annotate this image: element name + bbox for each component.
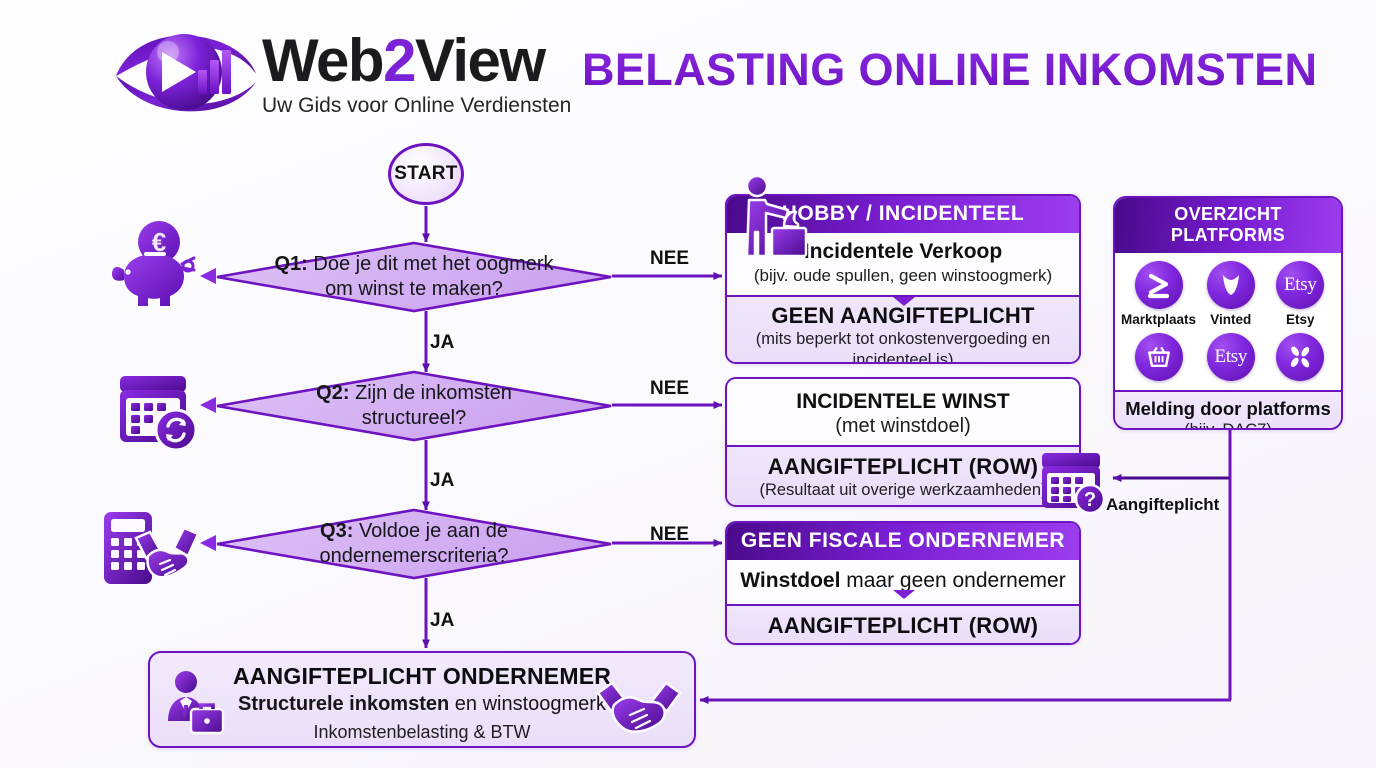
- platform-name: Marktplaats: [1121, 312, 1196, 328]
- outcome-card-geen-fiscale-ondernemer[interactable]: GEEN FISCALE ONDERNEMER Winstdoel maar g…: [725, 521, 1081, 645]
- platform-name: Etsy: [1266, 312, 1335, 328]
- platforms-footer-title: Melding door platforms: [1121, 397, 1335, 420]
- platform-vinted[interactable]: Vinted: [1196, 261, 1265, 328]
- hobby-body-sub: (bijv. oude spullen, geen winstoogmerk): [737, 265, 1069, 287]
- final-subtitle-bold: Structurele inkomsten: [238, 693, 449, 715]
- web2view-logo-icon: [110, 26, 262, 118]
- marktplaats-logo-icon: [1135, 261, 1183, 309]
- pinwheel-flower-icon: [1276, 333, 1324, 381]
- decision-q1[interactable]: Q1: Doe je dit met het oogmerk om winst …: [216, 242, 612, 312]
- brand-block: Web2View Uw Gids voor Online Verdiensten: [262, 30, 575, 118]
- incw-body-title: INCIDENTELE WINST: [737, 389, 1069, 415]
- q2-line2: structureel?: [362, 406, 467, 431]
- etsy-wordmark: Etsy: [1284, 274, 1317, 296]
- incw-foot-title: AANGIFTEPLICHT (ROW): [735, 453, 1071, 480]
- brand-tagline: Uw Gids voor Online Verdiensten: [262, 94, 575, 118]
- aangifteplicht-annotation: Aangifteplicht: [1106, 495, 1219, 515]
- gfo-card-header: GEEN FISCALE ONDERNEMER: [727, 523, 1079, 560]
- q2-prefix: Q2:: [316, 382, 349, 404]
- etsy-logo-icon: Etsy: [1207, 333, 1255, 381]
- platform-etsy-1[interactable]: Etsy Etsy: [1266, 261, 1335, 328]
- chevron-down-icon: [893, 590, 915, 599]
- page-title: BELASTING ONLINE INKOMSTEN: [582, 44, 1317, 96]
- decision-q3[interactable]: Q3: Voldoe je aan de ondernemerscriteria…: [216, 509, 612, 579]
- q1-line2: om winst te maken?: [325, 277, 503, 302]
- brand-word-view: View: [415, 27, 545, 94]
- incw-card-body: INCIDENTELE WINST (met winstdoel): [727, 379, 1079, 445]
- vinted-logo-icon: [1207, 261, 1255, 309]
- brand-word-web: Web: [262, 27, 383, 94]
- brand-word-two: 2: [383, 27, 415, 94]
- platforms-footer-sub: (bijv. DAC7): [1121, 420, 1335, 430]
- incw-card-foot: AANGIFTEPLICHT (ROW) (Resultaat uit over…: [727, 445, 1079, 507]
- final-subtitle-rest: en winstoogmerk: [449, 693, 606, 715]
- platforms-overview-panel[interactable]: OVERZICHT PLATFORMS Marktplaats Vinted E…: [1113, 196, 1343, 430]
- q1-prefix: Q1:: [274, 253, 307, 275]
- platforms-panel-header: OVERZICHT PLATFORMS: [1115, 198, 1341, 253]
- chevron-down-icon: [893, 297, 915, 306]
- platforms-panel-footer: Melding door platforms (bijv. DAC7): [1115, 392, 1341, 430]
- gfo-card-foot: AANGIFTEPLICHT (ROW): [727, 604, 1079, 645]
- calculator-handshake-icon: [98, 504, 210, 592]
- incw-foot-sub: (Resultaat uit overige werkzaamheden): [735, 480, 1071, 501]
- incw-body-sub: (met winstdoel): [737, 415, 1069, 437]
- q2-no-label: NEE: [650, 378, 689, 400]
- q1-yes-label: JA: [430, 332, 454, 354]
- hobby-foot-title: GEEN AANGIFTEPLICHT: [735, 302, 1071, 329]
- q2-text: Q2: Zijn de inkomsten structureel?: [216, 371, 612, 441]
- handshake-icon: [596, 675, 682, 737]
- svg-text:?: ?: [1084, 489, 1096, 511]
- calendar-recurring-icon: [110, 362, 206, 456]
- start-node[interactable]: START: [388, 143, 464, 205]
- q3-line2: ondernemerscriteria?: [320, 544, 509, 569]
- etsy-wordmark: Etsy: [1214, 346, 1247, 368]
- gfo-body-title-rest: maar geen ondernemer: [840, 569, 1065, 592]
- market-stall-person-icon: [736, 174, 816, 260]
- gfo-body-title-bold: Winstdoel: [740, 569, 840, 592]
- platform-name: Vinted: [1196, 312, 1265, 328]
- shopping-basket-icon: [1135, 333, 1183, 381]
- page-header: Web2View Uw Gids voor Online Verdiensten…: [0, 0, 1376, 140]
- q2-line1: Zijn de inkomsten: [355, 382, 512, 404]
- decision-q2[interactable]: Q2: Zijn de inkomsten structureel?: [216, 371, 612, 441]
- platform-marktplaats[interactable]: Marktplaats: [1121, 261, 1196, 328]
- platform-etsy-2[interactable]: Etsy: [1196, 333, 1265, 384]
- q1-line1: Doe je dit met het oogmerk: [313, 253, 553, 275]
- hobby-foot-sub: (mits beperkt tot onkostenvergoeding en …: [735, 329, 1071, 364]
- etsy-logo-icon: Etsy: [1276, 261, 1324, 309]
- platform-basket[interactable]: [1121, 333, 1196, 384]
- q1-text: Q1: Doe je dit met het oogmerk om winst …: [216, 242, 612, 312]
- calendar-question-icon: ?: [1036, 443, 1114, 515]
- q2-yes-label: JA: [430, 470, 454, 492]
- q3-line1: Voldoe je aan de: [359, 520, 508, 542]
- outcome-card-incidentele-winst[interactable]: INCIDENTELE WINST (met winstdoel) AANGIF…: [725, 377, 1081, 507]
- gfo-foot-title: AANGIFTEPLICHT (ROW): [735, 612, 1071, 639]
- brand-wordmark: Web2View: [262, 30, 575, 92]
- platform-pinwheel[interactable]: [1266, 333, 1335, 384]
- piggy-bank-euro-icon: €: [104, 214, 200, 314]
- q3-prefix: Q3:: [320, 520, 353, 542]
- businessman-briefcase-icon: [158, 667, 230, 739]
- q3-no-label: NEE: [650, 524, 689, 546]
- platforms-grid: Marktplaats Vinted Etsy Etsy: [1115, 253, 1341, 392]
- q3-yes-label: JA: [430, 610, 454, 632]
- outcome-card-aangifteplicht-ondernemer[interactable]: AANGIFTEPLICHT ONDERNEMER Structurele in…: [148, 651, 696, 748]
- q3-text: Q3: Voldoe je aan de ondernemerscriteria…: [216, 509, 612, 579]
- q1-no-label: NEE: [650, 248, 689, 270]
